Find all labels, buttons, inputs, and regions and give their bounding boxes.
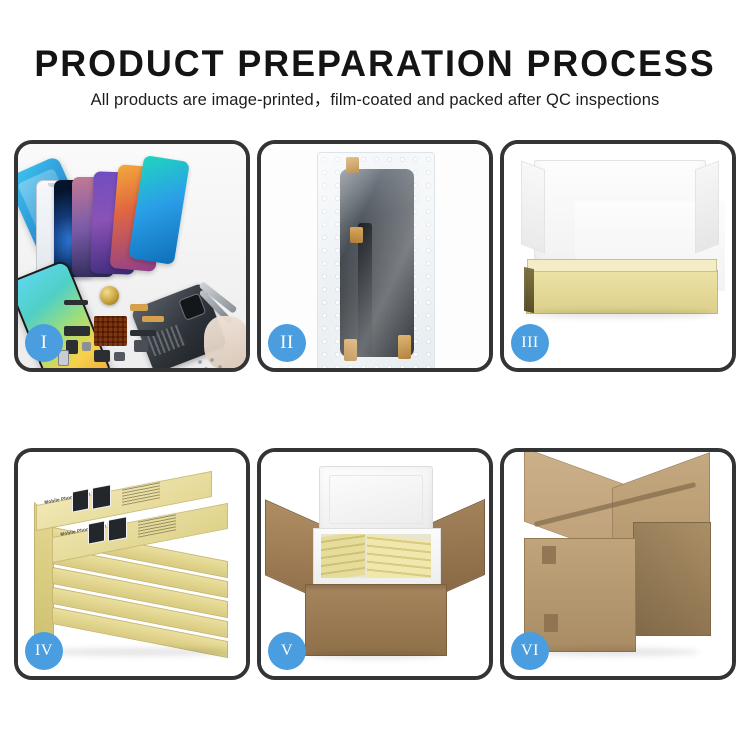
yellow-box-group-left bbox=[321, 534, 365, 578]
step-badge-5: V bbox=[268, 632, 306, 670]
foam-lid-open-icon bbox=[319, 466, 433, 534]
step-badge-2: II bbox=[268, 324, 306, 362]
flex-cable-b-icon bbox=[130, 304, 148, 311]
step-badge-6: VI bbox=[511, 632, 549, 670]
bag-gloss-overlay bbox=[318, 153, 434, 368]
box-screen-image-3-icon bbox=[88, 520, 105, 544]
box-screen-image-2-icon bbox=[92, 484, 111, 510]
yellow-box-body-icon bbox=[526, 270, 718, 314]
step-panel-4: Mobile Phone Spare Parts Mobile Phone Sp… bbox=[14, 448, 250, 680]
page-subtitle: All products are image-printed，film-coat… bbox=[0, 90, 750, 110]
box-corner-shadow bbox=[524, 267, 534, 313]
step-panel-2: II bbox=[257, 140, 493, 372]
carton-tape-bottom-icon bbox=[544, 614, 558, 632]
step-badge-3: III bbox=[511, 324, 549, 362]
box-screen-image-1-icon bbox=[72, 488, 89, 512]
component-j-icon bbox=[114, 352, 125, 361]
flex-cable-g-icon bbox=[130, 330, 156, 336]
header: PRODUCT PREPARATION PROCESS All products… bbox=[0, 0, 750, 128]
step-badge-1: I bbox=[25, 324, 63, 362]
product-preparation-infographic: PRODUCT PREPARATION PROCESS All products… bbox=[0, 0, 750, 750]
bubble-wrap-bag-icon bbox=[317, 152, 435, 368]
flex-cable-c-icon bbox=[142, 316, 164, 322]
flex-cable-d-icon bbox=[64, 326, 90, 336]
step-badge-4: IV bbox=[25, 632, 63, 670]
stack-shadow bbox=[44, 648, 230, 656]
component-f-icon bbox=[82, 342, 91, 351]
sealed-carton-shadow bbox=[530, 648, 700, 656]
yellow-box-group-right bbox=[367, 535, 431, 578]
step-panel-5: V bbox=[257, 448, 493, 680]
foam-lid-icon bbox=[534, 160, 706, 274]
step-panel-6: VI bbox=[500, 448, 736, 680]
component-h-icon bbox=[134, 340, 148, 352]
box-shadow bbox=[528, 310, 714, 318]
step-panel-1: I bbox=[14, 140, 250, 372]
box-screen-image-4-icon bbox=[108, 516, 127, 542]
component-i-icon bbox=[94, 350, 110, 362]
carton-side-icon bbox=[633, 522, 711, 636]
screws-icon bbox=[196, 358, 226, 368]
carton-tape-top-icon bbox=[542, 546, 556, 564]
flex-cable-a-icon bbox=[64, 300, 88, 305]
contact-grid-icon bbox=[94, 316, 127, 346]
packed-boxes-icon bbox=[321, 534, 431, 578]
camera-module-icon bbox=[100, 286, 119, 305]
carton-front-icon bbox=[305, 584, 447, 656]
process-steps-grid: I II bbox=[0, 136, 750, 696]
carton-shadow bbox=[309, 652, 443, 659]
page-title: PRODUCT PREPARATION PROCESS bbox=[11, 44, 739, 84]
step-panel-3: III bbox=[500, 140, 736, 372]
